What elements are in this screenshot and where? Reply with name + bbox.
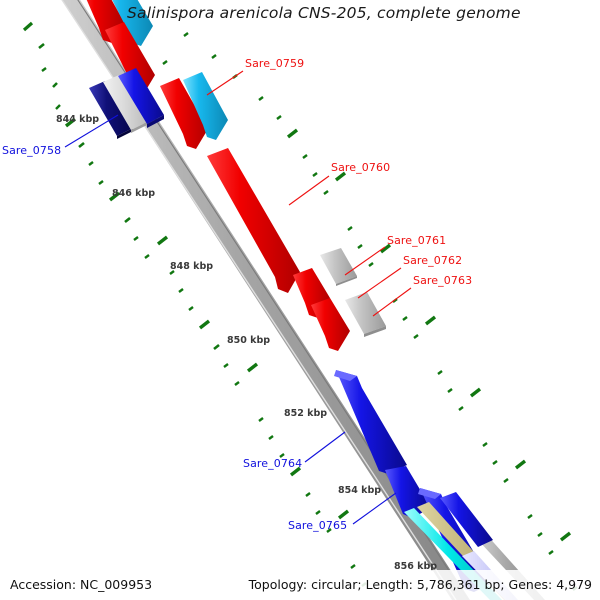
status-bar: Accession: NC_009953 Topology: circular;… [0,570,600,600]
gene-label-sare-0763[interactable]: Sare_0763 [413,274,472,287]
gene-label-sare-0764[interactable]: Sare_0764 [243,457,302,470]
genome-map-canvas[interactable] [0,0,600,600]
genome-viewer[interactable]: Salinispora arenicola CNS-205, complete … [0,0,600,600]
leader-sare-0761 [345,247,385,275]
leader-sare-0764 [305,432,345,462]
page-title: Salinispora arenicola CNS-205, complete … [127,4,521,22]
gene-label-sare-0760[interactable]: Sare_0760 [331,161,390,174]
gene-label-sare-0762[interactable]: Sare_0762 [403,254,462,267]
status-accession: Accession: NC_009953 [10,577,152,592]
gene-label-sare-0761[interactable]: Sare_0761 [387,234,446,247]
gene-box-sare-0762[interactable] [311,298,350,351]
leader-sare-0760 [289,176,329,205]
leader-sare-0759 [207,71,243,95]
gene-label-sare-0758[interactable]: Sare_0758 [2,144,61,157]
gene-box-neutral-lower[interactable] [345,292,386,337]
ruler-tick-label: 846 kbp [112,188,155,199]
ruler-tick-label: 852 kbp [284,408,327,419]
ruler-tick-label: 854 kbp [338,485,381,496]
ruler-tick-label: 844 kbp [56,114,99,125]
ruler-tick-label: 850 kbp [227,335,270,346]
gene-box-neutral-upper[interactable] [320,248,357,286]
leader-sare-0763 [373,288,411,316]
leader-sare-0765 [353,493,396,524]
status-genome-metadata: Topology: circular; Length: 5,786,361 bp… [249,577,592,592]
ruler-tick-label: 848 kbp [170,261,213,272]
gene-label-sare-0759[interactable]: Sare_0759 [245,57,304,70]
gene-label-sare-0765[interactable]: Sare_0765 [288,519,347,532]
leader-sare-0762 [358,268,401,298]
